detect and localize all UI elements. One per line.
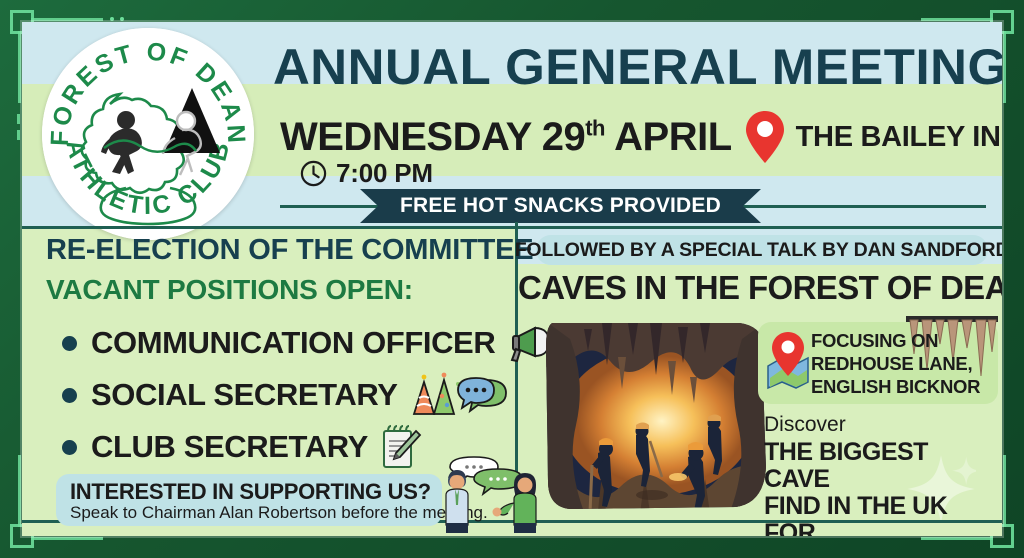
vacant-positions-list: COMMUNICATION OFFICER bbox=[62, 317, 561, 473]
club-logo: FOREST OF DEAN ATHLETIC CLUB bbox=[42, 28, 254, 240]
snacks-ribbon-label: FREE HOT SNACKS PROVIDED bbox=[400, 194, 721, 218]
poster-card: FOREST OF DEAN ATHLETIC CLUB bbox=[22, 22, 1002, 536]
party-hats-and-speech-bubbles-icon bbox=[408, 372, 508, 418]
talk-intro-label: FOLLOWED BY A SPECIAL TALK BY DAN SANDFO… bbox=[515, 239, 1002, 262]
left-column: RE-ELECTION OF THE COMMITTEE VACANT POSI… bbox=[22, 229, 515, 536]
focus-line-3: ENGLISH BICKNOR bbox=[811, 375, 991, 398]
talk-title: CAVES IN THE FOREST OF DEAN bbox=[518, 269, 1002, 307]
list-item: SOCIAL SECRETARY bbox=[62, 369, 561, 421]
interest-question: INTERESTED IN SUPPORTING US? bbox=[70, 479, 431, 505]
bullet-icon bbox=[62, 336, 77, 351]
interest-callout: INTERESTED IN SUPPORTING US? Speak to Ch… bbox=[56, 474, 442, 526]
meeting-time-row: 7:00 PM bbox=[300, 158, 433, 189]
bullet-icon bbox=[62, 440, 77, 455]
committee-heading: RE-ELECTION OF THE COMMITTEE bbox=[46, 234, 533, 267]
list-item: COMMUNICATION OFFICER bbox=[62, 317, 561, 369]
right-column: FOLLOWED BY A SPECIAL TALK BY DAN SANDFO… bbox=[518, 229, 1002, 536]
discover-headline: THE BIGGEST CAVE FIND IN THE UK FOR OVER… bbox=[764, 439, 996, 536]
clock-icon bbox=[300, 160, 327, 187]
focus-line-2: REDHOUSE LANE, bbox=[811, 352, 991, 375]
focus-line-1: FOCUSING ON bbox=[811, 329, 991, 352]
talk-intro-pill: FOLLOWED BY A SPECIAL TALK BY DAN SANDFO… bbox=[536, 235, 988, 265]
snacks-ribbon: FREE HOT SNACKS PROVIDED bbox=[360, 189, 761, 223]
position-label: CLUB SECRETARY bbox=[91, 429, 368, 465]
discover-line-2: FIND IN THE UK FOR bbox=[764, 493, 996, 536]
vacant-positions-subheading: VACANT POSITIONS OPEN: bbox=[46, 274, 413, 306]
notepad-and-pencil-icon bbox=[378, 423, 422, 471]
meeting-date: WEDNESDAY 29th APRIL bbox=[280, 117, 732, 157]
meeting-time: 7:00 PM bbox=[336, 158, 433, 189]
focus-text: FOCUSING ON REDHOUSE LANE, ENGLISH BICKN… bbox=[811, 329, 991, 398]
cave-illustration bbox=[540, 317, 772, 517]
interest-detail: Speak to Chairman Alan Robertson before … bbox=[70, 503, 488, 523]
bullet-icon bbox=[62, 388, 77, 403]
poster-root: FOREST OF DEAN ATHLETIC CLUB bbox=[0, 0, 1024, 558]
focus-location-callout: FOCUSING ON REDHOUSE LANE, ENGLISH BICKN… bbox=[758, 322, 998, 404]
map-location-pin-icon bbox=[766, 332, 810, 390]
page-title: ANNUAL GENERAL MEETING bbox=[273, 42, 993, 92]
position-label: SOCIAL SECRETARY bbox=[91, 377, 398, 413]
map-pin-icon bbox=[744, 109, 786, 165]
position-label: COMMUNICATION OFFICER bbox=[91, 325, 495, 361]
discover-line-1: THE BIGGEST CAVE bbox=[764, 439, 996, 493]
discover-block: Discover THE BIGGEST CAVE FIND IN THE UK… bbox=[764, 413, 996, 536]
venue-name: THE BAILEY INN, YORKLEY bbox=[796, 121, 1002, 154]
discover-label: Discover bbox=[764, 413, 996, 437]
